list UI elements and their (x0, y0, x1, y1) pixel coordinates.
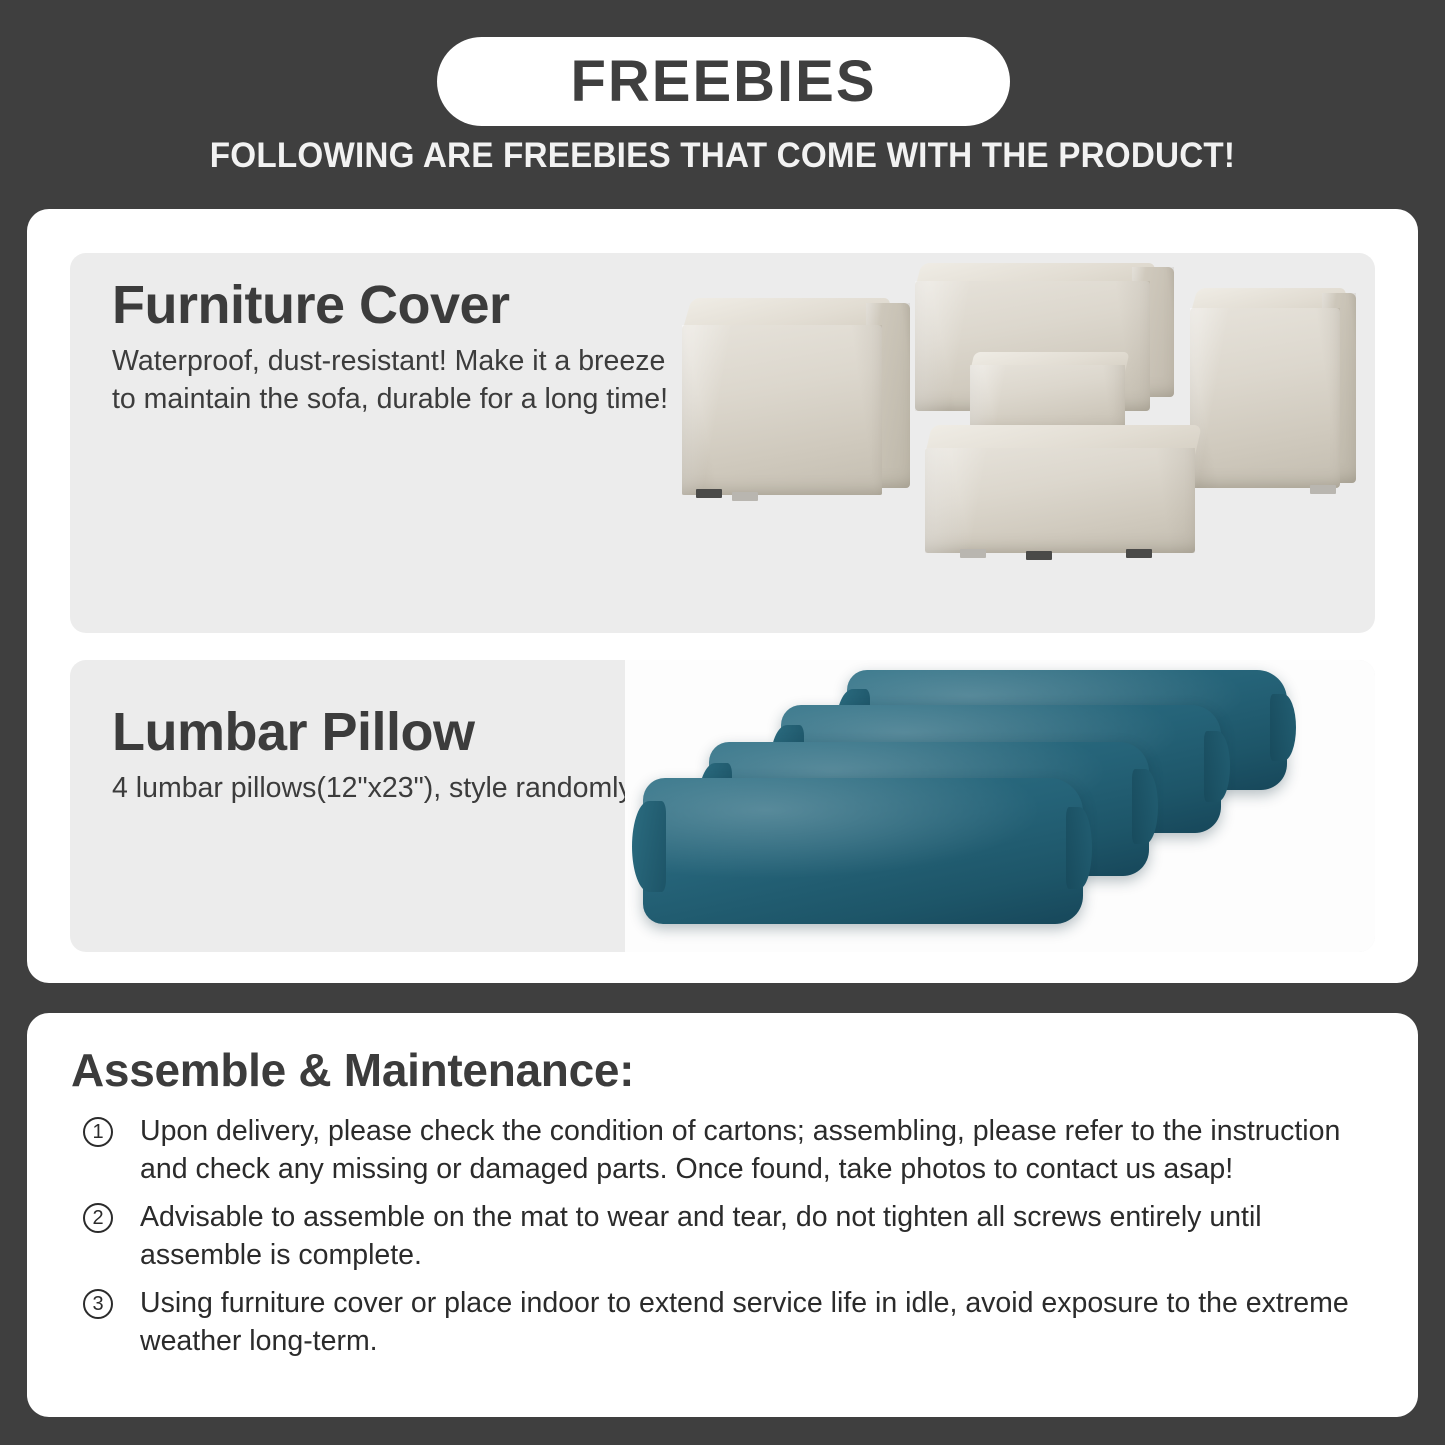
cover-leg (696, 489, 722, 498)
lumbar-pillow-description: 4 lumbar pillows(12"x23"), style randoml… (112, 770, 672, 808)
page-title: FREEBIES (570, 53, 876, 111)
lumbar-pillow-title: Lumbar Pillow (112, 702, 672, 762)
title-pill: FREEBIES (437, 37, 1010, 126)
furniture-cover-photo (670, 253, 1375, 633)
list-marker-2: 2 (83, 1203, 113, 1233)
list-marker-3: 3 (83, 1289, 113, 1319)
pillow-front (643, 778, 1083, 924)
assemble-content: Assemble & Maintenance: 1 Upon delivery,… (71, 1043, 1381, 1372)
list-item-text: Advisable to assemble on the mat to wear… (140, 1201, 1262, 1271)
list-item-text: Using furniture cover or place indoor to… (140, 1287, 1349, 1357)
cover-leg (1310, 485, 1336, 494)
cover-leg (1026, 551, 1052, 560)
freebie-panel-furniture-cover: Furniture Cover Waterproof, dust-resista… (70, 253, 1375, 633)
list-item-text: Upon delivery, please check the conditio… (140, 1115, 1340, 1185)
cover-front-ottoman (925, 448, 1195, 553)
cover-leg (1126, 549, 1152, 558)
furniture-cover-title: Furniture Cover (112, 275, 672, 335)
list-item: 1 Upon delivery, please check the condit… (71, 1113, 1381, 1188)
assemble-title: Assemble & Maintenance: (71, 1043, 1381, 1097)
freebies-card: Furniture Cover Waterproof, dust-resista… (27, 209, 1418, 983)
assemble-maintenance-card: Assemble & Maintenance: 1 Upon delivery,… (27, 1013, 1418, 1417)
list-item: 2 Advisable to assemble on the mat to we… (71, 1199, 1381, 1274)
cover-leg (732, 492, 758, 501)
cover-left-armchair (682, 325, 882, 495)
cover-right-armchair (1190, 308, 1340, 488)
freebie-panel-lumbar-pillow: Lumbar Pillow 4 lumbar pillows(12"x23"),… (70, 660, 1375, 952)
header-subtitle: FOLLOWING ARE FREEBIES THAT COME WITH TH… (36, 136, 1409, 176)
list-marker-1: 1 (83, 1117, 113, 1147)
infographic-page: FREEBIES FOLLOWING ARE FREEBIES THAT COM… (0, 0, 1445, 1445)
lumbar-pillow-photo (625, 660, 1375, 952)
list-item: 3 Using furniture cover or place indoor … (71, 1285, 1381, 1360)
lumbar-pillow-text-block: Lumbar Pillow 4 lumbar pillows(12"x23"),… (112, 702, 672, 808)
header: FREEBIES FOLLOWING ARE FREEBIES THAT COM… (0, 0, 1445, 200)
furniture-cover-text-block: Furniture Cover Waterproof, dust-resista… (112, 275, 672, 419)
cover-leg (960, 549, 986, 558)
furniture-cover-description: Waterproof, dust-resistant! Make it a br… (112, 343, 672, 419)
